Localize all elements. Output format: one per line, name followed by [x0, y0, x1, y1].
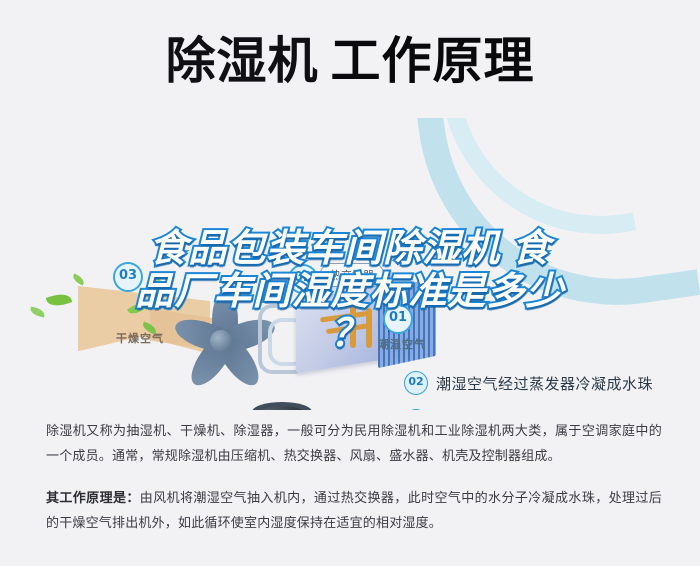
legend-badge: 02 — [404, 371, 428, 395]
body-copy: 除湿机又称为抽湿机、干燥机、除湿器，一般可分为民用除湿机和工业除湿机两大类，属于… — [46, 418, 662, 551]
page-title: 除湿机工作原理 — [0, 18, 700, 104]
leaf-icon — [150, 277, 162, 285]
leaf-icon — [71, 273, 86, 285]
diagram-badge-02: 02 — [288, 264, 318, 294]
paragraph-two: 其工作原理是：由风机将潮湿空气抽入机内，通过热交换器，此时空气中的水分子冷凝成水… — [46, 485, 662, 536]
leaf-icon — [29, 307, 45, 318]
leaf-icon — [46, 291, 73, 310]
heat-exchanger-callout: 热交换器 — [320, 263, 384, 287]
list-item: 02 潮湿空气经过蒸发器冷凝成水珠 — [404, 364, 700, 402]
legend-list: 02 潮湿空气经过蒸发器冷凝成水珠 03 从上部出风口吹出清新干爽空气 — [404, 364, 700, 410]
copper-coil — [366, 308, 372, 348]
diagram-badge-01: 01 — [383, 304, 413, 334]
illustration-stage: 干燥空气 水箱 03 02 01 — [0, 118, 700, 410]
paragraph-two-lead: 其工作原理是： — [46, 490, 140, 505]
dry-air-label: 干燥空气 — [116, 330, 164, 346]
paragraph-one: 除湿机又称为抽湿机、干燥机、除湿器，一般可分为民用除湿机和工业除湿机两大类，属于… — [46, 418, 662, 469]
copper-coil — [350, 304, 356, 348]
list-item: 03 从上部出风口吹出清新干爽空气 — [404, 402, 700, 410]
title-part-one: 除湿机 — [166, 33, 319, 89]
humid-air-label: 潮湿空气 — [378, 336, 426, 352]
fan-hub — [210, 330, 232, 352]
diagram-badge-03: 03 — [113, 262, 143, 292]
legend-label: 潮湿空气经过蒸发器冷凝成水珠 — [436, 373, 653, 394]
legend-badge: 03 — [404, 409, 428, 410]
title-part-two: 工作原理 — [331, 33, 535, 89]
title-text: 除湿机工作原理 — [166, 36, 535, 86]
page-root: 除湿机工作原理 干燥空气 — [0, 0, 700, 566]
